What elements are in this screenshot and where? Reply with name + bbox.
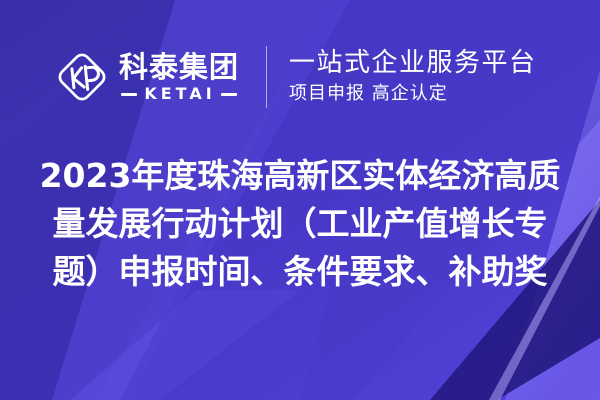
dash-left-icon (121, 93, 137, 96)
page-title-line-3: 题）申报时间、条件要求、补助奖 (8, 248, 592, 296)
page-title-line-2: 量发展行动计划（工业产值增长专 (8, 200, 592, 248)
promo-banner: 科泰集团 KETAI 一站式企业服务平台 项目申报 高企认定 2023年度珠海高… (0, 0, 600, 400)
logo-company-name-en: KETAI (144, 86, 215, 102)
page-title-line-1: 2023年度珠海高新区实体经济高质 (8, 152, 592, 200)
logo-wordmark: 科泰集团 KETAI (119, 52, 239, 102)
page-title: 2023年度珠海高新区实体经济高质 量发展行动计划（工业产值增长专 题）申报时间… (0, 152, 600, 296)
brand-tagline: 一站式企业服务平台 项目申报 高企认定 (289, 48, 537, 106)
banner-header: 科泰集团 KETAI 一站式企业服务平台 项目申报 高企认定 (0, 38, 600, 116)
tagline-primary: 一站式企业服务平台 (289, 48, 537, 79)
logo-en-row: KETAI (119, 86, 239, 102)
logo-company-name-cn: 科泰集团 (119, 52, 239, 82)
ketai-kp-monogram-icon (55, 50, 109, 104)
header-divider (266, 46, 267, 108)
tagline-secondary: 项目申报 高企认定 (289, 82, 537, 106)
wedge-spike-bottom-left (70, 290, 300, 400)
dash-right-icon (221, 93, 237, 96)
brand-logo[interactable]: 科泰集团 KETAI (55, 50, 239, 104)
